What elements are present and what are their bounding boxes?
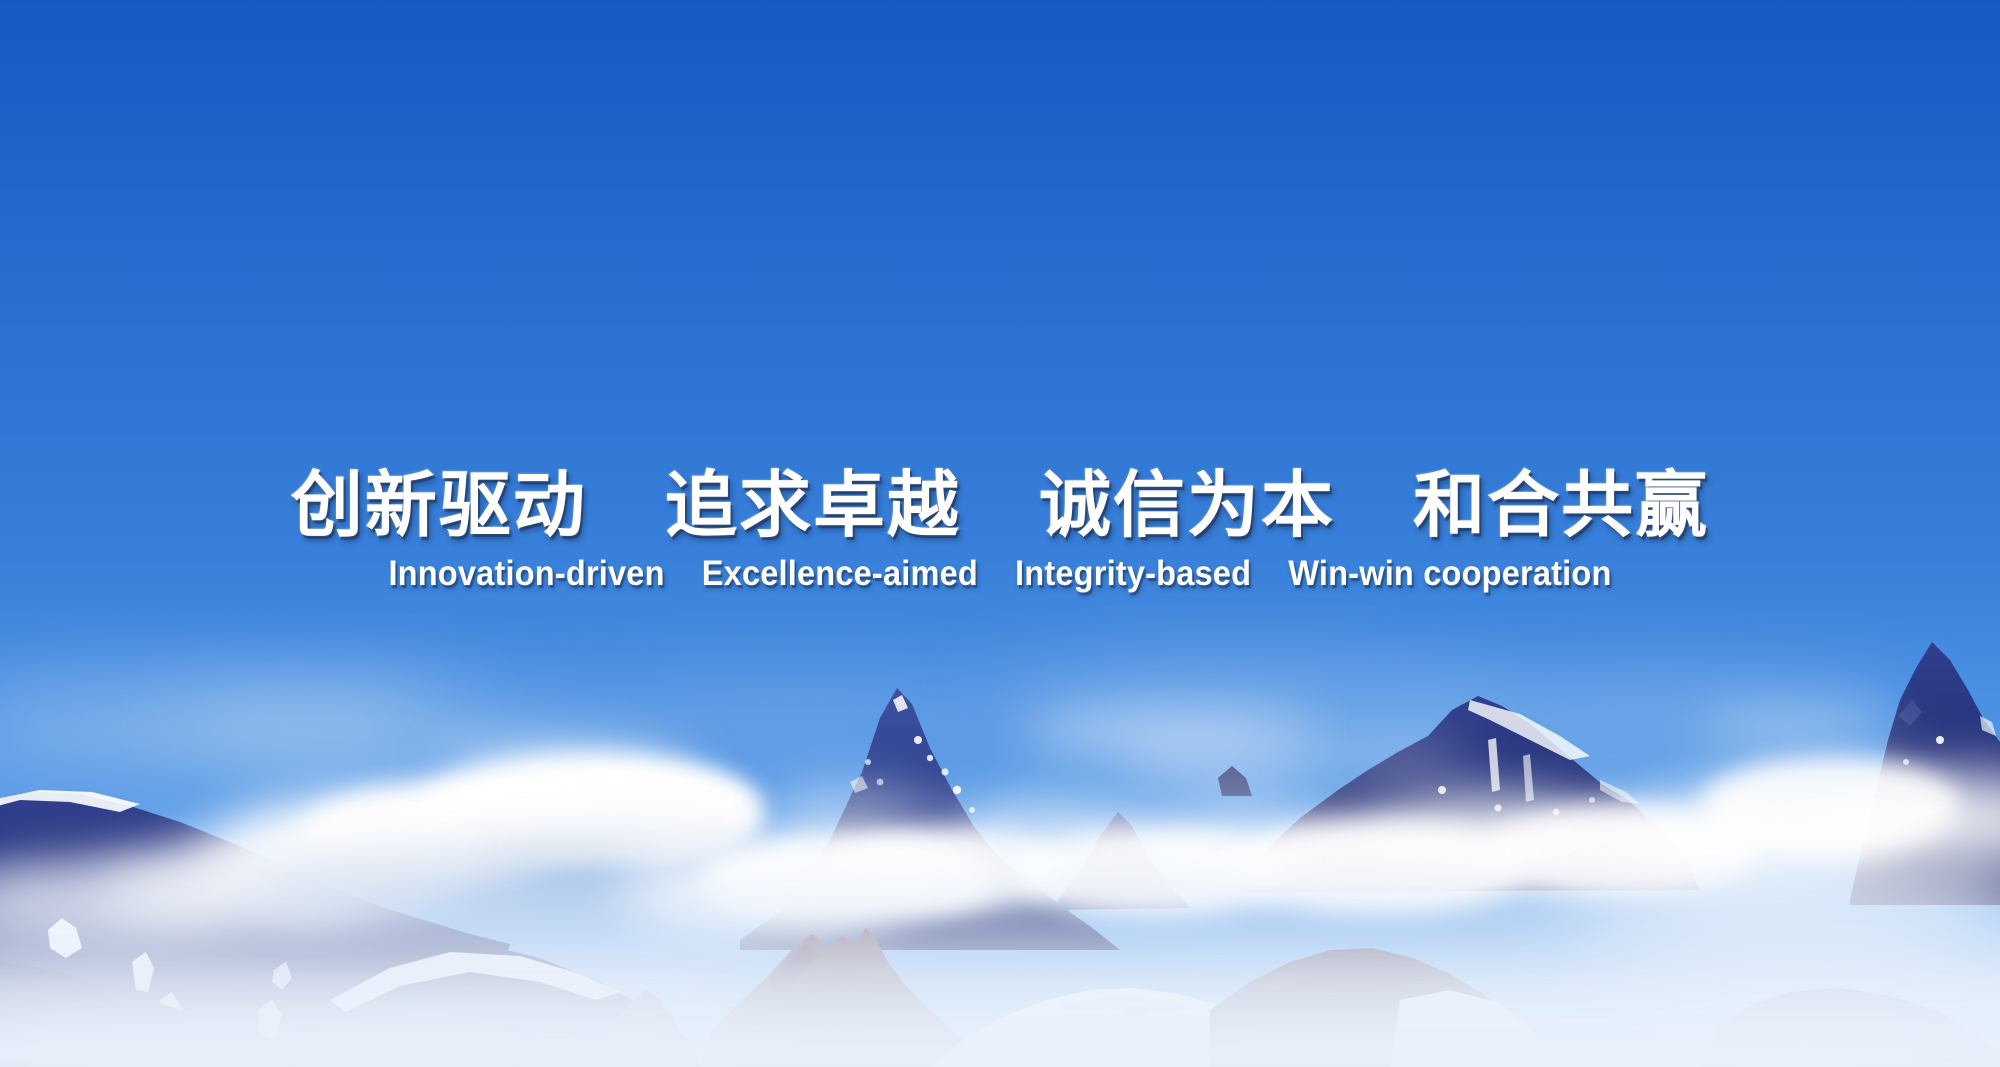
slogan-cn-group-3: 诚信为本 (1039, 470, 1335, 542)
slogan-block: 创新驱动 追求卓越 诚信为本 和合共赢 Innovation-driven Ex… (0, 470, 2000, 594)
slogan-cn-group-4: 和合共赢 (1413, 470, 1709, 542)
slogan-en-group-3: Integrity-based (1015, 554, 1251, 593)
slogan-en-group-4: Win-win cooperation (1288, 554, 1611, 593)
slogan-en-group-2: Excellence-aimed (702, 554, 978, 593)
slogan-english: Innovation-driven Excellence-aimed Integ… (70, 554, 1930, 594)
slogan-cn-group-2: 追求卓越 (665, 470, 961, 542)
hero-banner: 创新驱动 追求卓越 诚信为本 和合共赢 Innovation-driven Ex… (0, 0, 2000, 1067)
slogan-chinese: 创新驱动 追求卓越 诚信为本 和合共赢 (0, 470, 2000, 542)
slogan-en-group-1: Innovation-driven (388, 554, 664, 593)
bottom-fog-band-inner (0, 967, 2000, 1067)
slogan-cn-group-1: 创新驱动 (291, 470, 587, 542)
